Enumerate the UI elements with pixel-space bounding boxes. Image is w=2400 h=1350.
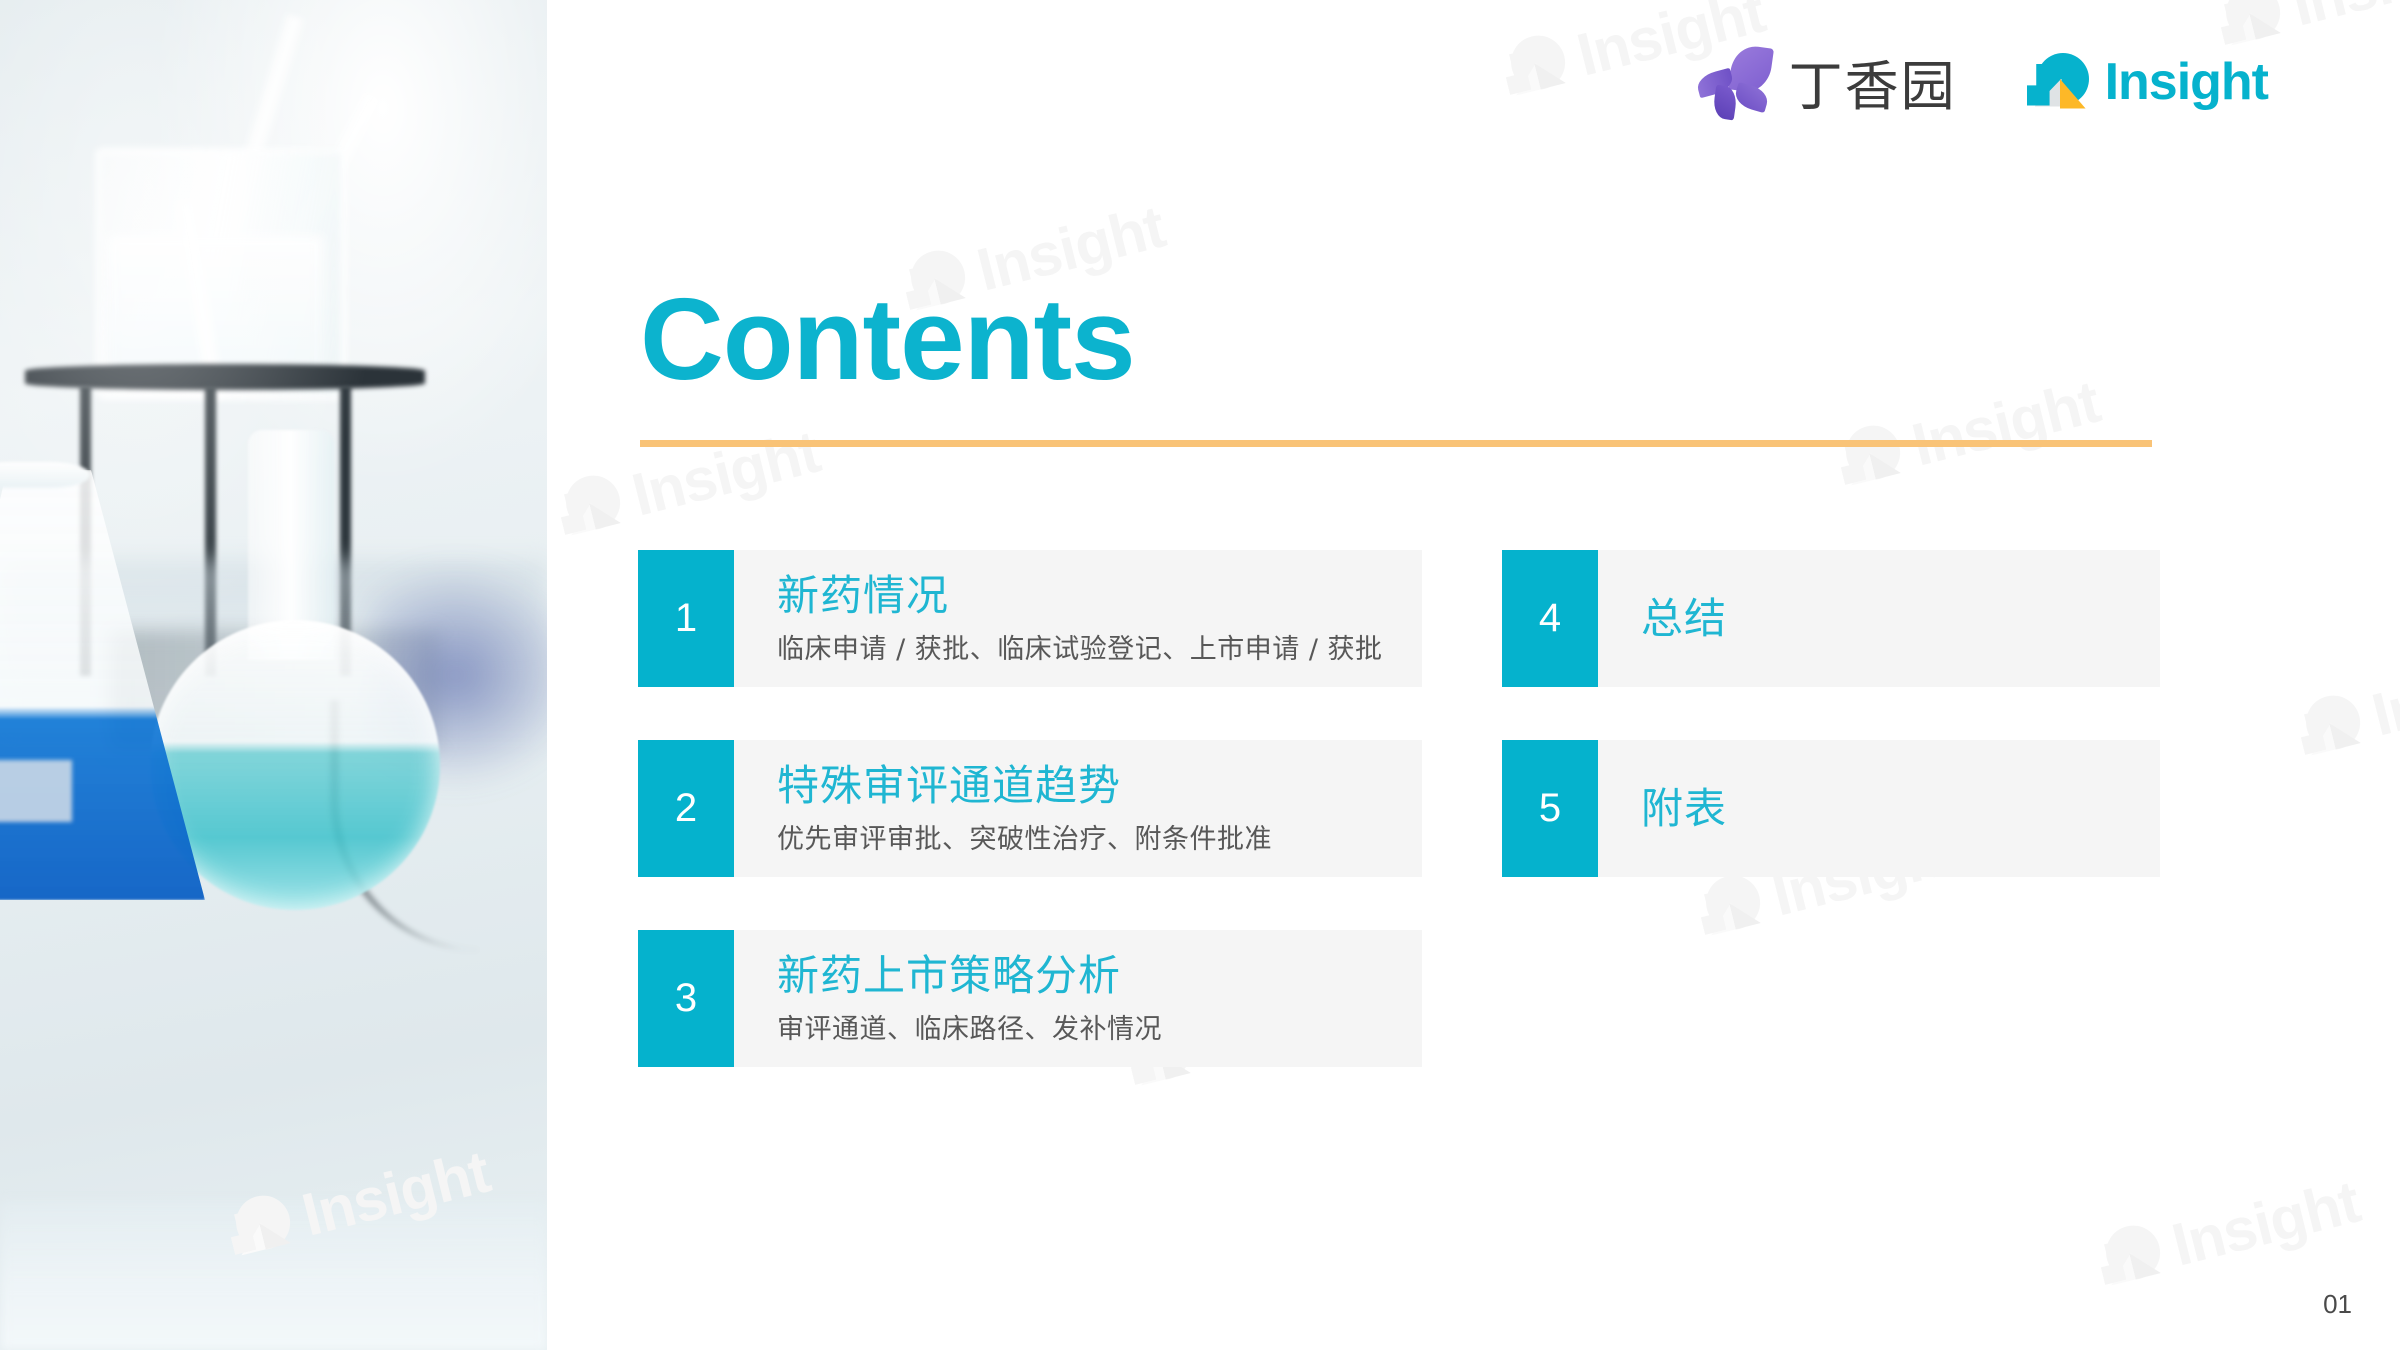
pie-chart-icon [2093,1219,2168,1294]
insight-logo-label: Insight [2105,52,2268,112]
contents-item-body: 特殊审评通道趋势 优先审评审批、突破性治疗、附条件批准 [734,740,1422,877]
pie-chart-icon [1498,29,1573,104]
page-number: 01 [2323,1289,2352,1320]
contents-item-title: 总结 [1641,594,2136,644]
watermark-label: Insight [2165,1167,2366,1280]
contents-item-number: 2 [638,740,734,877]
contents-item-number: 1 [638,550,734,687]
pie-chart-icon [1833,419,1908,494]
contents-item-body: 附表 [1598,740,2160,877]
watermark-label: Insight [1905,367,2106,480]
insight-logo[interactable]: Insight [2027,51,2268,113]
contents-item-subtitle: 临床申请 / 获批、临床试验登记、上市申请 / 获批 [777,627,1398,666]
contents-item-title: 新药情况 [777,571,1398,621]
watermark: Insight [2292,637,2400,768]
contents-item-title: 附表 [1641,784,2136,834]
contents-item-body: 总结 [1598,550,2160,687]
contents-item-3[interactable]: 3 新药上市策略分析 审评通道、临床路径、发补情况 [638,930,1422,1067]
pie-chart-icon [2027,51,2089,113]
contents-item-number: 4 [1502,550,1598,687]
watermark-label: Insight [2285,0,2400,40]
contents-item-body: 新药上市策略分析 审评通道、临床路径、发补情况 [734,930,1422,1067]
contents-item-1[interactable]: 1 新药情况 临床申请 / 获批、临床试验登记、上市申请 / 获批 [638,550,1422,687]
contents-right-column: 4 总结 5 附表 [1502,550,2160,930]
lilac-flower-icon [1697,46,1771,118]
contents-item-title: 特殊审评通道趋势 [777,761,1398,811]
contents-item-number: 3 [638,930,734,1067]
watermark: Insight [552,417,826,548]
contents-item-subtitle: 优先审评审批、突破性治疗、附条件批准 [777,817,1398,856]
photo-light-sheen [0,0,547,1350]
slide-canvas: Insight Insight Insight Insight Insight … [0,0,2400,1350]
dxy-logo-label: 丁香园 [1789,42,1957,121]
title-divider [640,440,2152,447]
watermark: Insight [2092,1167,2366,1298]
contents-item-body: 新药情况 临床申请 / 获批、临床试验登记、上市申请 / 获批 [734,550,1422,687]
contents-item-subtitle: 审评通道、临床路径、发补情况 [777,1007,1398,1046]
dxy-logo[interactable]: 丁香园 [1697,42,1957,121]
pie-chart-icon [2293,689,2368,764]
watermark-label: Insight [2365,637,2400,750]
page-title-text: Contents [640,272,1135,406]
contents-item-title: 新药上市策略分析 [777,951,1398,1001]
contents-item-2[interactable]: 2 特殊审评通道趋势 优先审评审批、突破性治疗、附条件批准 [638,740,1422,877]
watermark-label: Insight [625,417,826,530]
contents-left-column: 1 新药情况 临床申请 / 获批、临床试验登记、上市申请 / 获批 2 特殊审评… [638,550,1422,1120]
page-title: Contents [640,272,1135,406]
contents-item-number: 5 [1502,740,1598,877]
watermark: Insight [1832,367,2106,498]
contents-item-5[interactable]: 5 附表 [1502,740,2160,877]
pie-chart-icon [553,469,628,544]
header-logos: 丁香园 Insight [1697,42,2268,121]
contents-item-4[interactable]: 4 总结 [1502,550,2160,687]
laboratory-photo [0,0,547,1350]
